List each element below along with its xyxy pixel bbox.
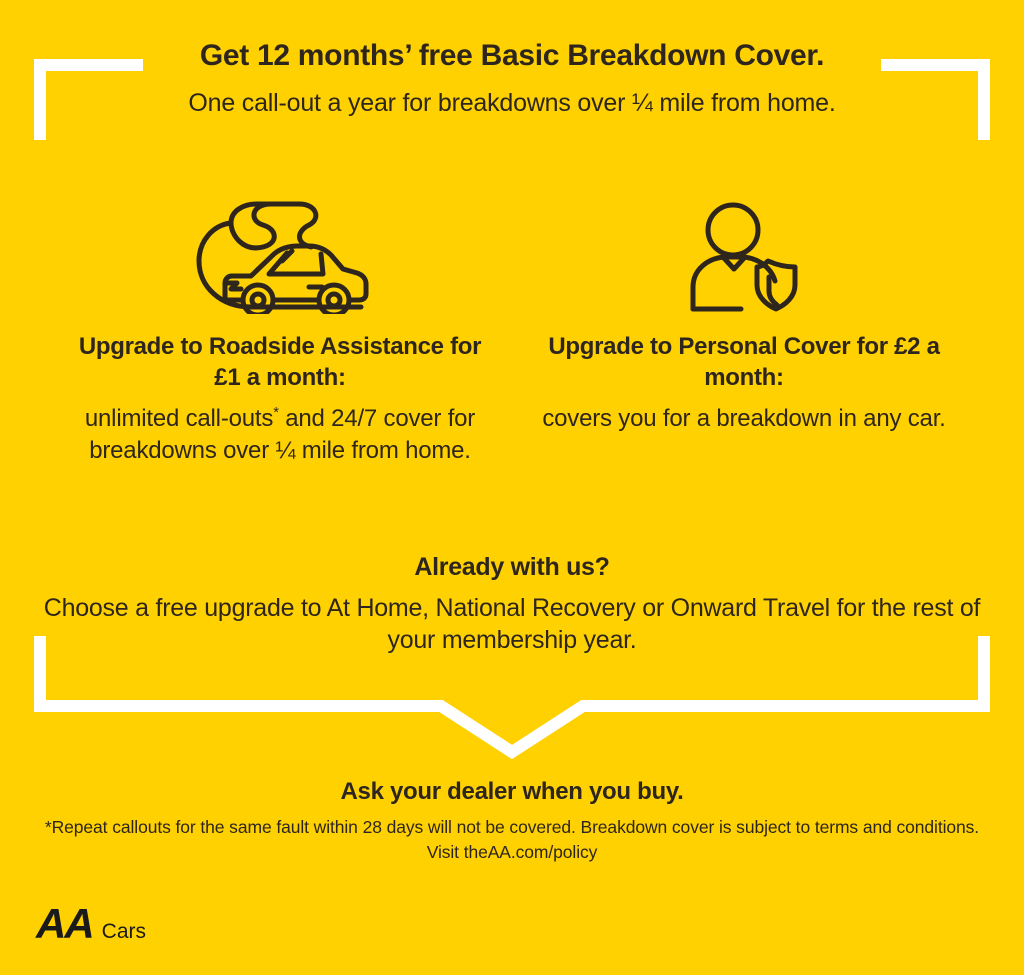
disclaimer-text: *Repeat callouts for the same fault with… bbox=[40, 815, 984, 865]
page-subtitle: One call-out a year for breakdowns over … bbox=[0, 88, 1024, 119]
offer-columns: Upgrade to Roadside Assistance for £1 a … bbox=[40, 188, 984, 467]
offer-body-personal: covers you for a breakdown in any car. bbox=[534, 403, 954, 435]
offer-body-roadside: unlimited call-outs* and 24/7 cover for … bbox=[70, 403, 490, 466]
footer-section: Ask your dealer when you buy. *Repeat ca… bbox=[40, 778, 984, 865]
page-title: Get 12 months’ free Basic Breakdown Cove… bbox=[0, 38, 1024, 74]
aa-cars-logo: AA Cars bbox=[36, 903, 146, 945]
poster-root: Get 12 months’ free Basic Breakdown Cove… bbox=[0, 0, 1024, 975]
offer-card-roadside: Upgrade to Roadside Assistance for £1 a … bbox=[40, 188, 512, 467]
call-to-action-title: Ask your dealer when you buy. bbox=[40, 778, 984, 806]
offer-body-roadside-part1: unlimited call-outs bbox=[85, 405, 273, 432]
already-with-us-body: Choose a free upgrade to At Home, Nation… bbox=[40, 592, 984, 656]
offer-title-roadside: Upgrade to Roadside Assistance for £1 a … bbox=[70, 332, 490, 393]
aa-logo-wordmark: Cars bbox=[102, 921, 146, 942]
offer-card-personal: Upgrade to Personal Cover for £2 a month… bbox=[512, 188, 984, 435]
offer-title-personal: Upgrade to Personal Cover for £2 a month… bbox=[534, 332, 954, 393]
person-with-shield-icon bbox=[534, 188, 954, 314]
header: Get 12 months’ free Basic Breakdown Cove… bbox=[0, 38, 1024, 119]
car-on-winding-road-icon bbox=[70, 188, 490, 314]
already-with-us-title: Already with us? bbox=[40, 553, 984, 582]
already-with-us-section: Already with us? Choose a free upgrade t… bbox=[40, 553, 984, 656]
aa-logo-mark: AA bbox=[36, 903, 93, 945]
